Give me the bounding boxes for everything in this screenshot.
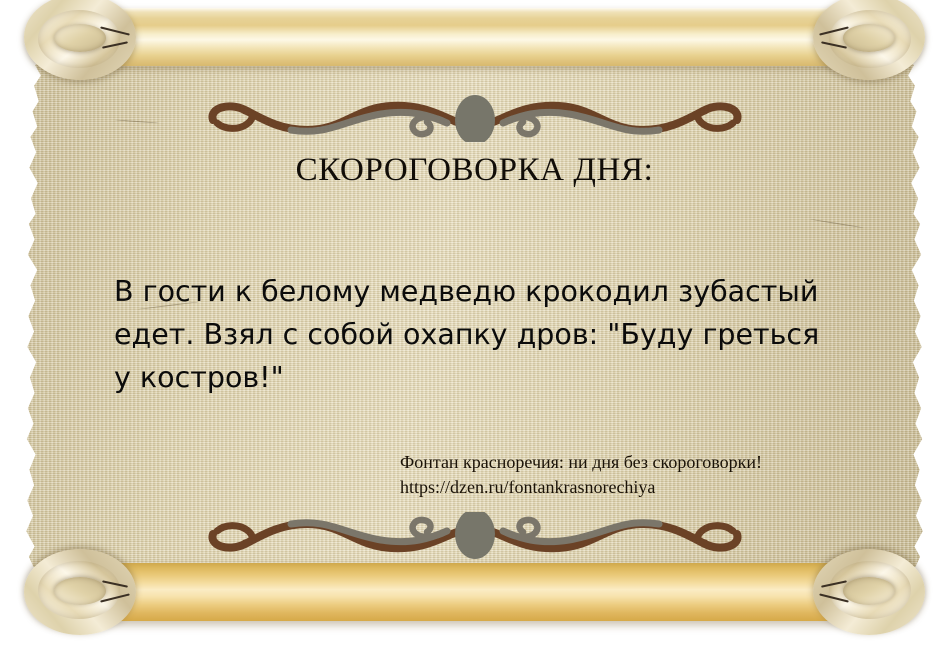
body-line: у костров!" xyxy=(114,356,874,399)
scroll-image-canvas: СКОРОГОВОРКА ДНЯ: В гости к белому медве… xyxy=(0,0,949,649)
signature-block: Фонтан красноречия: ни дня без скорогово… xyxy=(400,450,762,500)
scroll-curl-top-left xyxy=(24,0,136,80)
flourish-divider-bottom xyxy=(195,512,755,564)
curl-spiral xyxy=(54,577,106,605)
curl-spiral xyxy=(54,24,106,52)
curl-spiral xyxy=(843,577,895,605)
scroll-roll-bottom xyxy=(28,563,921,621)
scroll-curl-bottom-left xyxy=(24,549,136,635)
torn-edge-right xyxy=(904,55,930,567)
signature-tagline: Фонтан красноречия: ни дня без скорогово… xyxy=(400,450,762,475)
scroll-curl-top-right xyxy=(813,0,925,80)
ornament-center-oval xyxy=(455,512,495,559)
signature-url[interactable]: https://dzen.ru/fontankrasnorechiya xyxy=(400,475,762,500)
tongue-twister-text: В гости к белому медведю крокодил зубаст… xyxy=(114,270,874,399)
paper-crease xyxy=(810,219,863,228)
paper-crease xyxy=(115,119,159,123)
scroll-roll-top xyxy=(28,8,921,66)
body-line: В гости к белому медведю крокодил зубаст… xyxy=(114,270,874,313)
curl-spiral xyxy=(843,24,895,52)
body-line: едет. Взял с собой охапку дров: "Буду гр… xyxy=(114,313,874,356)
scroll-curl-bottom-right xyxy=(813,549,925,635)
torn-edge-left xyxy=(19,55,45,567)
page-title: СКОРОГОВОРКА ДНЯ: xyxy=(0,152,949,189)
flourish-divider-top xyxy=(195,90,755,142)
ornament-center-oval xyxy=(455,95,495,142)
